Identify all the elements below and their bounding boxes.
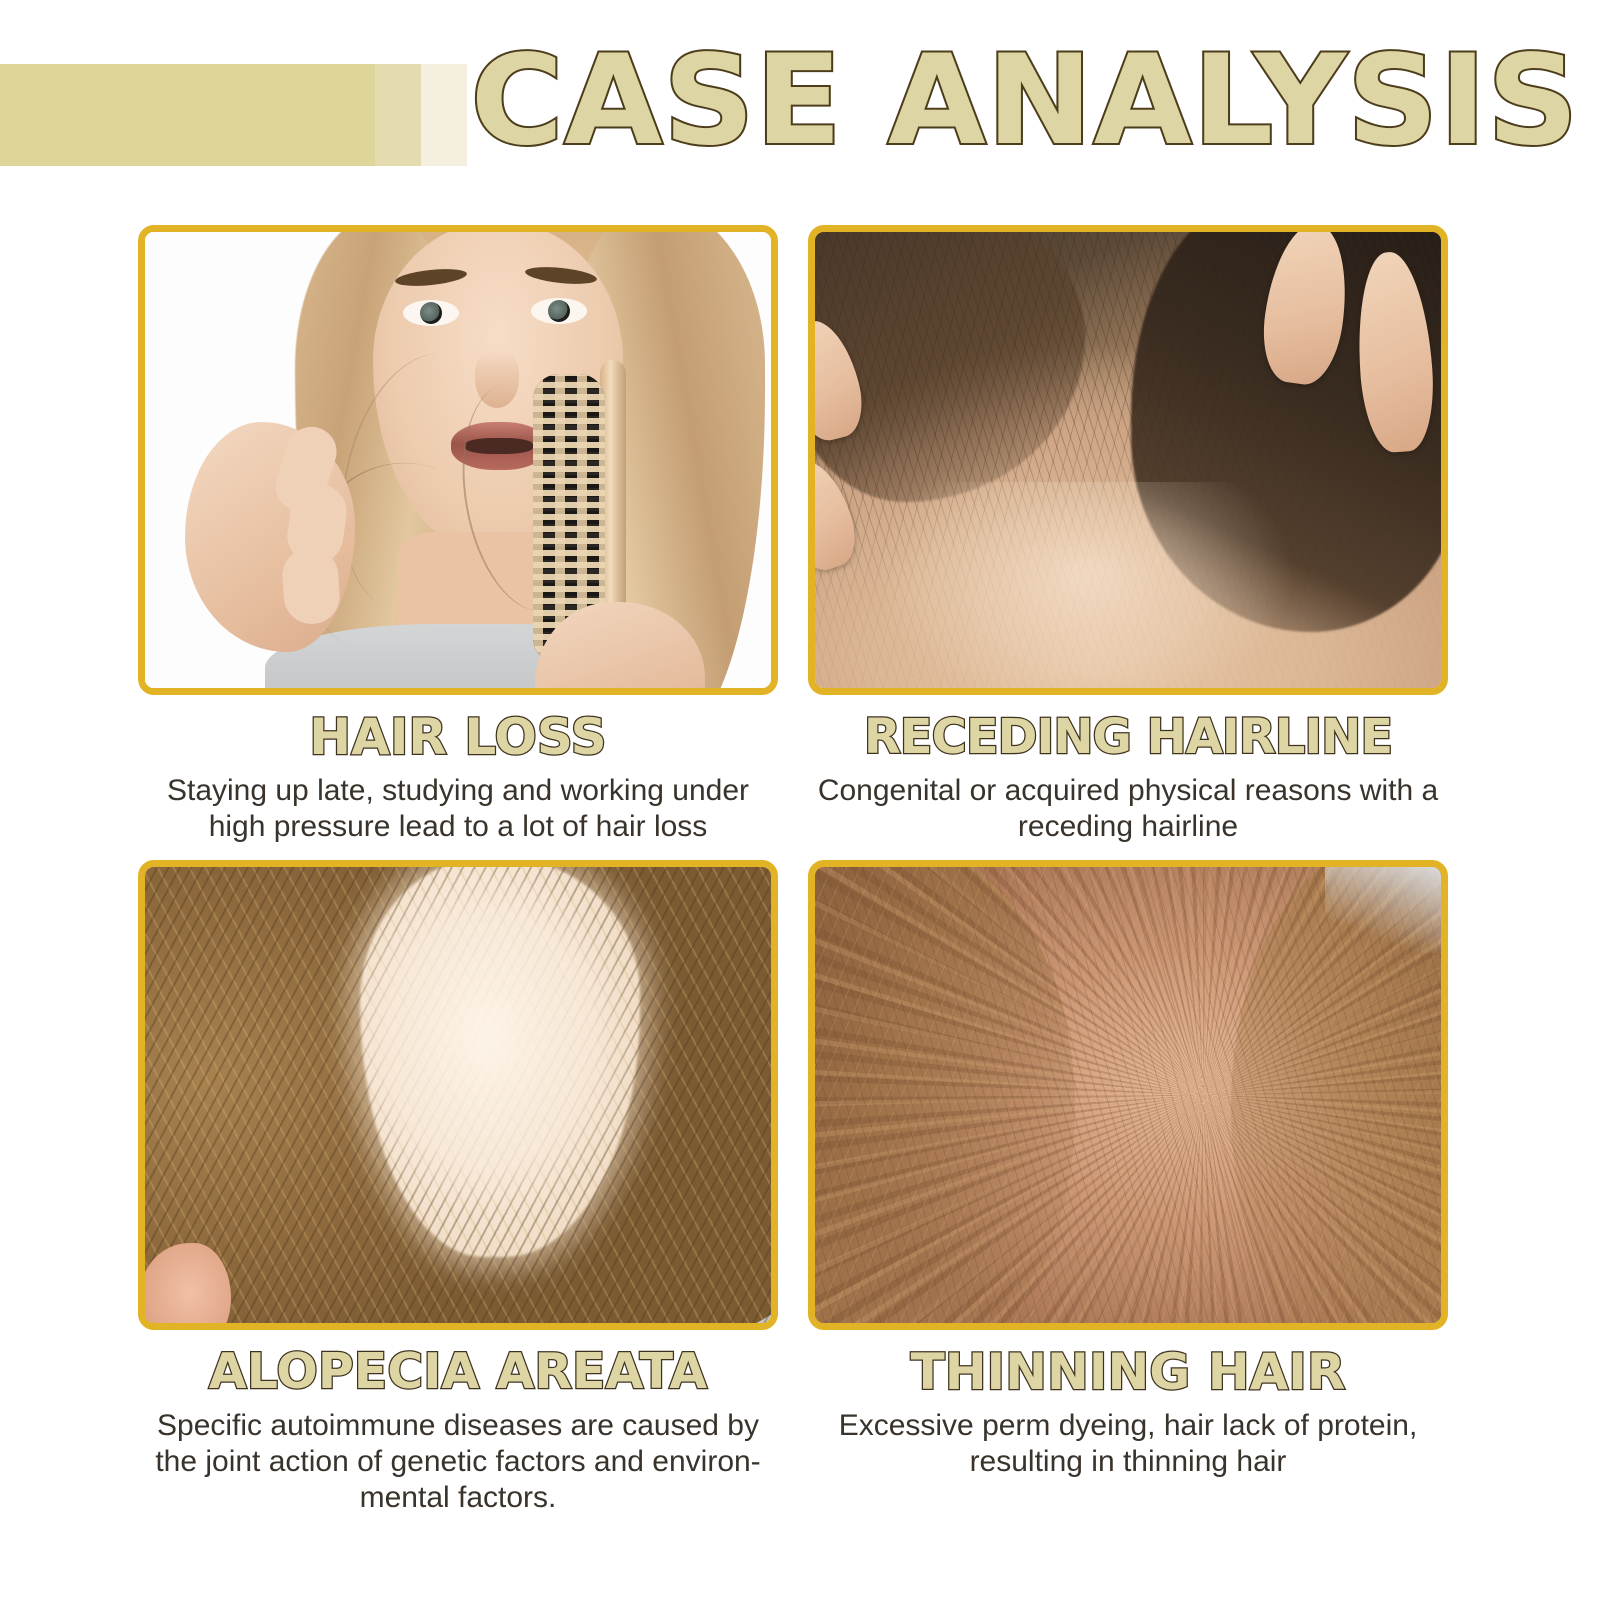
case-card-hair-loss[interactable]: HAIR LOSS Staying up late, studying and … bbox=[138, 225, 778, 845]
decor-segment-2 bbox=[375, 64, 421, 166]
case-description: Staying up late, studying and working un… bbox=[138, 773, 778, 845]
photo-alopecia-areata bbox=[145, 867, 771, 1323]
case-photo-frame bbox=[808, 860, 1448, 1330]
case-analysis-poster: CASE ANALYSIS bbox=[0, 0, 1600, 1600]
case-title: RECEDING HAIRLINE bbox=[808, 709, 1448, 765]
case-description: Specific autoimmune diseases are caused … bbox=[138, 1408, 778, 1516]
case-photo-frame bbox=[138, 225, 778, 695]
photo-receding-hairline bbox=[815, 232, 1441, 688]
poster-header: CASE ANALYSIS bbox=[0, 0, 1600, 205]
header-decorative-bar bbox=[0, 64, 467, 166]
decor-segment-3 bbox=[421, 64, 467, 166]
case-title: HAIR LOSS bbox=[138, 709, 778, 765]
case-description: Excessive perm dyeing, hair lack of prot… bbox=[808, 1408, 1448, 1480]
case-photo-frame bbox=[808, 225, 1448, 695]
case-card-thinning-hair[interactable]: THINNING HAIR Excessive perm dyeing, hai… bbox=[808, 860, 1448, 1480]
decor-segment-1 bbox=[0, 64, 375, 166]
photo-hair-loss bbox=[145, 232, 771, 688]
case-title: ALOPECIA AREATA bbox=[138, 1344, 778, 1400]
case-card-receding-hairline[interactable]: RECEDING HAIRLINE Congenital or acquired… bbox=[808, 225, 1448, 845]
case-description: Congenital or acquired physical reasons … bbox=[808, 773, 1448, 845]
case-title: THINNING HAIR bbox=[808, 1344, 1448, 1400]
case-photo-frame bbox=[138, 860, 778, 1330]
page-title: CASE ANALYSIS bbox=[469, 36, 1581, 166]
photo-thinning-hair bbox=[815, 867, 1441, 1323]
case-card-alopecia-areata[interactable]: ALOPECIA AREATA Specific autoimmune dise… bbox=[138, 860, 778, 1516]
case-grid: HAIR LOSS Staying up late, studying and … bbox=[0, 205, 1600, 1600]
